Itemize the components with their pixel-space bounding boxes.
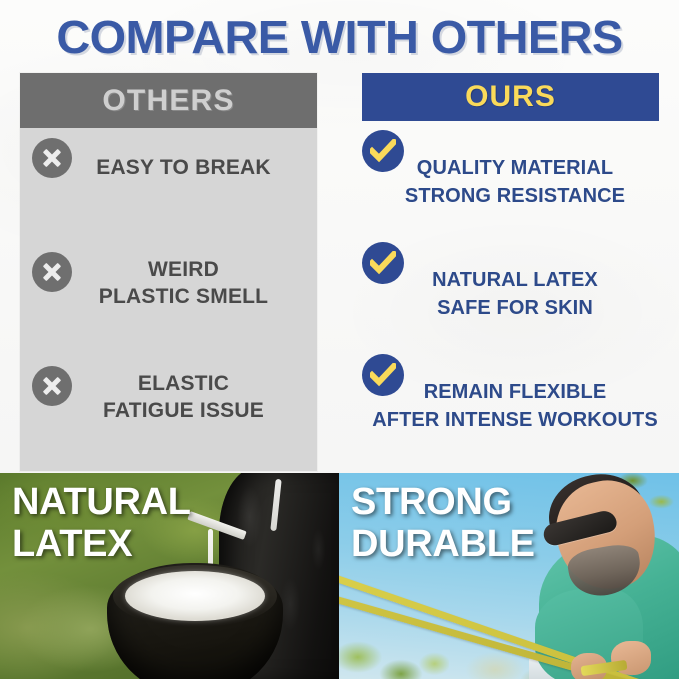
- ours-item-line: AFTER INTENSE WORKOUTS: [358, 406, 672, 434]
- list-item: ELASTIC FATIGUE ISSUE: [20, 356, 317, 470]
- others-header: OTHERS: [20, 73, 317, 128]
- page-title: COMPARE WITH OTHERS: [0, 12, 679, 62]
- ours-header-label: OURS: [465, 80, 556, 114]
- others-header-label: OTHERS: [102, 84, 234, 118]
- comparison-section: OTHERS EASY TO BREAK WEIRD PLASTIC SMELL: [0, 66, 679, 474]
- others-item-line: EASY TO BREAK: [96, 156, 271, 179]
- others-item-line: PLASTIC SMELL: [99, 285, 268, 308]
- comparison-infographic: COMPARE WITH OTHERS OTHERS EASY TO BREAK…: [0, 0, 679, 679]
- ours-item-line: NATURAL LATEX: [358, 266, 672, 294]
- others-panel: OTHERS EASY TO BREAK WEIRD PLASTIC SMELL: [20, 73, 317, 471]
- list-item: EASY TO BREAK: [20, 128, 317, 242]
- list-item: WEIRD PLASTIC SMELL: [20, 242, 317, 356]
- photo-caption-line: STRONG: [351, 481, 512, 523]
- ours-item-text: NATURAL LATEX SAFE FOR SKIN: [358, 266, 672, 322]
- others-item-line: WEIRD: [148, 258, 219, 281]
- ours-item-text: QUALITY MATERIAL STRONG RESISTANCE: [358, 154, 672, 210]
- photo-caption-line: DURABLE: [351, 523, 535, 565]
- ours-header: OURS: [362, 73, 659, 121]
- photo-caption: STRONG DURABLE: [351, 481, 535, 565]
- ours-list: QUALITY MATERIAL STRONG RESISTANCE NATUR…: [358, 124, 678, 460]
- photo-caption-line: LATEX: [12, 523, 132, 565]
- photo-strong-durable: STRONG DURABLE: [339, 473, 679, 679]
- ours-item-line: SAFE FOR SKIN: [358, 294, 672, 322]
- photo-natural-latex: NATURAL LATEX: [0, 473, 339, 679]
- photo-caption-line: NATURAL: [12, 481, 191, 523]
- others-item-line: ELASTIC: [138, 372, 229, 395]
- list-item: QUALITY MATERIAL STRONG RESISTANCE: [358, 124, 678, 236]
- others-item-text: EASY TO BREAK: [60, 154, 307, 181]
- photo-strip: NATURAL LATEX: [0, 473, 679, 679]
- photo-caption: NATURAL LATEX: [12, 481, 191, 565]
- ours-item-line: QUALITY MATERIAL: [358, 154, 672, 182]
- others-item-text: WEIRD PLASTIC SMELL: [60, 256, 307, 310]
- list-item: REMAIN FLEXIBLE AFTER INTENSE WORKOUTS: [358, 348, 678, 460]
- others-item-text: ELASTIC FATIGUE ISSUE: [60, 370, 307, 424]
- ours-panel: OURS QUALITY MATERIAL STRONG RESISTANCE: [358, 66, 664, 474]
- ours-item-text: REMAIN FLEXIBLE AFTER INTENSE WORKOUTS: [358, 378, 672, 434]
- others-list: EASY TO BREAK WEIRD PLASTIC SMELL ELASTI…: [20, 128, 317, 471]
- list-item: NATURAL LATEX SAFE FOR SKIN: [358, 236, 678, 348]
- ours-item-line: STRONG RESISTANCE: [358, 182, 672, 210]
- ours-item-line: REMAIN FLEXIBLE: [358, 378, 672, 406]
- others-item-line: FATIGUE ISSUE: [103, 399, 264, 422]
